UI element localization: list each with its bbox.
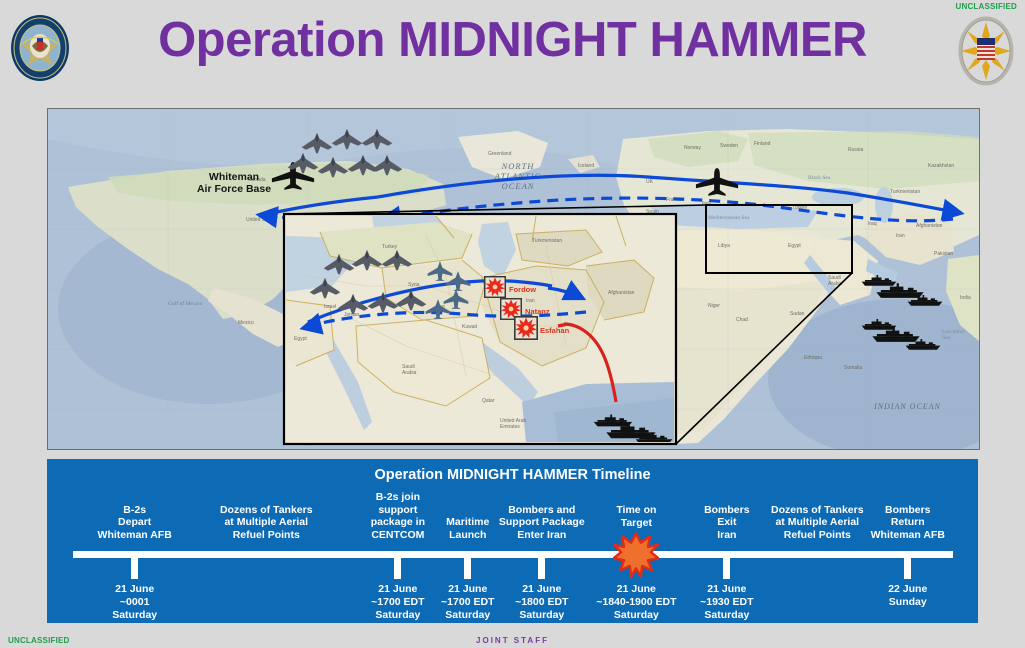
- timeline-event-label: B-2s Depart Whiteman AFB: [60, 504, 210, 542]
- svg-text:Egypt: Egypt: [788, 243, 801, 249]
- map-label-indian-ocean: INDIAN OCEAN: [873, 402, 941, 411]
- svg-text:Iran: Iran: [526, 298, 535, 304]
- svg-text:Qatar: Qatar: [482, 398, 495, 404]
- svg-text:UK: UK: [646, 179, 654, 185]
- svg-text:Mexico: Mexico: [238, 320, 254, 326]
- timeline-date-label: 21 June ~1930 EDT Saturday: [652, 583, 802, 622]
- svg-text:Israel: Israel: [324, 304, 336, 310]
- svg-text:Greenland: Greenland: [488, 151, 512, 157]
- svg-text:Iraq: Iraq: [868, 221, 877, 227]
- svg-text:Air Force Base: Air Force Base: [197, 183, 271, 195]
- target-label-natanz: Natanz: [525, 307, 550, 316]
- timeline-tick: [538, 558, 545, 579]
- svg-text:Sudan: Sudan: [790, 311, 805, 317]
- inset-map-middle-east: Turkey Syria Iraq Iran SaudiArabia Egypt…: [284, 214, 676, 444]
- target-label-esfahan: Esfahan: [540, 326, 570, 335]
- svg-text:Turkmenistan: Turkmenistan: [890, 189, 920, 195]
- timeline-tick: [723, 558, 730, 579]
- timeline-tick: [394, 558, 401, 579]
- svg-text:Whiteman: Whiteman: [209, 171, 259, 183]
- operation-map: Black Sea Mediterranean Sea Gulf of Mexi…: [47, 108, 980, 450]
- svg-text:OCEAN: OCEAN: [502, 181, 535, 191]
- svg-text:Somalia: Somalia: [844, 365, 862, 371]
- timeline-date-label: 21 June ~0001 Saturday: [60, 583, 210, 622]
- svg-text:India: India: [960, 295, 971, 301]
- svg-text:Finland: Finland: [754, 141, 771, 147]
- svg-text:Ethiopia: Ethiopia: [804, 355, 822, 361]
- svg-text:Black Sea: Black Sea: [808, 175, 831, 181]
- svg-text:Kazakhstan: Kazakhstan: [928, 163, 954, 169]
- classification-marking-top: UNCLASSIFIED: [955, 2, 1017, 11]
- page-title: Operation MIDNIGHT HAMMER: [0, 14, 1025, 68]
- svg-text:Afghanistan: Afghanistan: [608, 290, 635, 296]
- svg-text:Norway: Norway: [684, 145, 701, 151]
- svg-text:Russia: Russia: [848, 147, 864, 153]
- svg-text:Turkey: Turkey: [382, 244, 398, 250]
- timeline-title: Operation MIDNIGHT HAMMER Timeline: [47, 467, 978, 483]
- svg-text:Mediterranean Sea: Mediterranean Sea: [708, 215, 750, 221]
- timeline-tick: [904, 558, 911, 579]
- svg-text:SaudiArabia: SaudiArabia: [402, 364, 417, 376]
- svg-text:Niger: Niger: [708, 303, 720, 309]
- svg-text:Kuwait: Kuwait: [462, 324, 478, 330]
- svg-text:INDIAN OCEAN: INDIAN OCEAN: [873, 402, 941, 411]
- svg-text:NORTH: NORTH: [501, 161, 535, 171]
- timeline-panel: Operation MIDNIGHT HAMMER Timeline B-2s …: [47, 459, 978, 623]
- map-svg: Black Sea Mediterranean Sea Gulf of Mexi…: [48, 109, 979, 449]
- svg-text:Iceland: Iceland: [578, 163, 594, 169]
- target-label-fordow: Fordow: [509, 285, 536, 294]
- svg-text:Pakistan: Pakistan: [934, 251, 953, 257]
- svg-text:Gulf of Mexico: Gulf of Mexico: [168, 300, 202, 307]
- svg-text:Egypt: Egypt: [294, 336, 307, 342]
- joint-chiefs-of-staff-seal-icon: [955, 12, 1017, 90]
- slide-root: UNCLASSIFIED UNCLASSIFIED JOINT STAFF Op…: [0, 0, 1025, 648]
- svg-text:Sweden: Sweden: [720, 143, 738, 149]
- svg-text:Chad: Chad: [736, 317, 748, 323]
- svg-text:Turkmenistan: Turkmenistan: [532, 238, 562, 244]
- timeline-tick: [464, 558, 471, 579]
- timeline-date-label: 22 June Sunday: [833, 583, 983, 609]
- timeline-event-label: Bombers Return Whiteman AFB: [833, 504, 983, 542]
- timeline-event-label: Dozens of Tankers at Multiple Aerial Ref…: [191, 504, 341, 542]
- svg-text:Afghanistan: Afghanistan: [916, 223, 943, 229]
- svg-text:Iran: Iran: [896, 233, 905, 239]
- svg-text:Syria: Syria: [408, 282, 420, 288]
- footer-organization: JOINT STAFF: [0, 636, 1025, 645]
- timeline-tick: [131, 558, 138, 579]
- svg-text:Libya: Libya: [718, 243, 730, 249]
- timeline-axis: [73, 551, 953, 558]
